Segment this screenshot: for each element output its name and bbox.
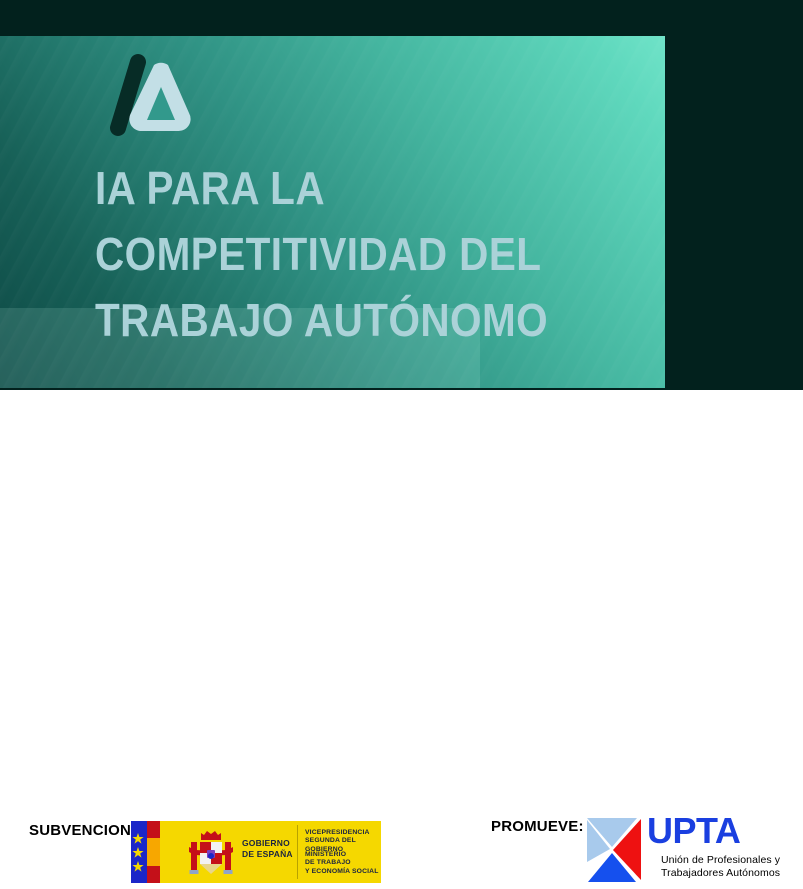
promueve-label: PROMUEVE: [491,818,584,835]
svg-text:UPTA: UPTA [647,814,741,850]
upta-tagline-line-2: Trabajadores Autónomos [661,867,780,880]
gobierno-de-espana-text: GOBIERNO DE ESPAÑA [242,838,293,859]
upta-tagline-line-1: Unión de Profesionales y [661,854,780,867]
spain-coat-of-arms [187,826,235,880]
title-line-3: TRABAJO AUTÓNOMO [95,287,588,353]
gobierno-de-espana-logo: GOBIERNO DE ESPAÑA VICEPRESIDENCIA SEGUN… [131,821,381,883]
banner-divider [297,825,298,879]
hero-banner: IA PARA LA COMPETITIVIDAD DEL TRABAJO AU… [0,0,803,390]
ministerio-text: MINISTERIO DE TRABAJO Y ECONOMÍA SOCIAL [305,851,379,876]
title-line-2: COMPETITIVIDAD DEL [95,221,588,287]
ministerio-line-2: DE TRABAJO [305,859,379,867]
page-title: IA PARA LA COMPETITIVIDAD DEL TRABAJO AU… [95,155,588,353]
gobierno-line-2: DE ESPAÑA [242,849,293,860]
footer-credits: SUBVENCIONA: [0,390,803,523]
ministerio-line-3: Y ECONOMÍA SOCIAL [305,868,379,876]
upta-wordmark: UPTA [647,814,802,850]
ministerio-line-1: MINISTERIO [305,851,379,859]
title-line-1: IA PARA LA [95,155,588,221]
vicepresidencia-line-1: VICEPRESIDENCIA [305,829,381,837]
upta-tagline: Unión de Profesionales y Trabajadores Au… [661,854,780,880]
ia-slash-triangle-logo [88,51,198,139]
subvenciona-label: SUBVENCIONA: [29,822,147,839]
upta-logo: UPTA Unión de Profesionales y Trabajador… [585,816,800,888]
gobierno-line-1: GOBIERNO [242,838,293,849]
spain-eu-flag-strip [131,821,178,883]
